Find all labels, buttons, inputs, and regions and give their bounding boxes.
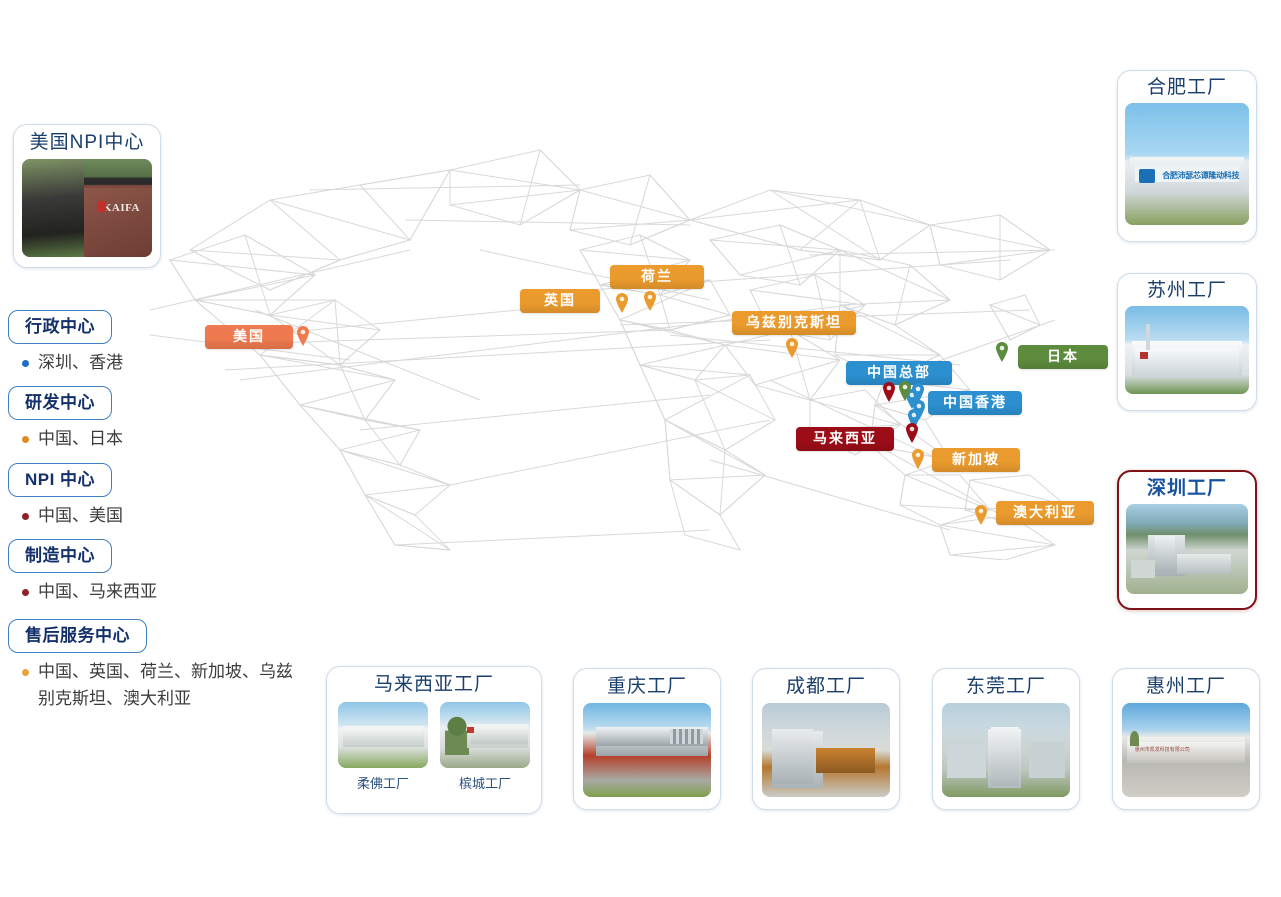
map-label-9[interactable]: 澳大利亚 <box>996 501 1094 525</box>
card-dongguan-factory[interactable]: 东莞工厂 <box>932 668 1080 810</box>
map-pin-2[interactable] <box>643 291 657 311</box>
penang-factory-photo <box>440 702 530 768</box>
hefei-factory-photo: 合肥沛瑟芯谭隆动科技 <box>1125 103 1249 225</box>
legend-pill-after-sales[interactable]: 售后服务中心 <box>8 619 147 653</box>
legend-text-rnd: 中国、日本 <box>38 426 123 452</box>
malaysia-penang-block: 槟城工厂 <box>440 702 530 792</box>
legend-pill-npi[interactable]: NPI 中心 <box>8 463 112 497</box>
legend-item-administrative: 深圳、香港 <box>22 350 308 376</box>
legend-bullet-administrative <box>22 360 29 367</box>
malaysia-johor-block: 柔佛工厂 <box>338 702 428 792</box>
legend-bullet-manufacturing <box>22 589 29 596</box>
card-shenzhen-factory[interactable]: 深圳工厂 <box>1117 470 1257 610</box>
legend-pill-administrative[interactable]: 行政中心 <box>8 310 112 344</box>
legend-item-after-sales: 中国、英国、荷兰、新加坡、乌兹别克斯坦、澳大利亚 <box>22 659 308 712</box>
map-label-2[interactable]: 荷兰 <box>610 265 704 289</box>
chengdu-factory-photo <box>762 703 890 797</box>
global-layout-map: 美国NPI中心 KAIFA 行政中心 深圳、香港 研发中心 中国、日本 NPI … <box>0 0 1281 897</box>
legend-pill-rnd[interactable]: 研发中心 <box>8 386 112 420</box>
penang-factory-label: 槟城工厂 <box>440 773 530 792</box>
card-usa-npi-center[interactable]: 美国NPI中心 KAIFA <box>13 124 161 268</box>
johor-factory-photo <box>338 702 428 768</box>
map-pin-cluster-0[interactable] <box>882 382 896 402</box>
card-title-malaysia: 马来西亚工厂 <box>374 675 494 694</box>
map-pin-8[interactable] <box>911 449 925 469</box>
legend-item-rnd: 中国、日本 <box>22 426 308 452</box>
legend-bullet-rnd <box>22 436 29 443</box>
card-huizhou-factory[interactable]: 惠州工厂 惠州市凯发科技有限公司 <box>1112 668 1260 810</box>
map-pin-4[interactable] <box>995 342 1009 362</box>
map-pin-cluster-1[interactable] <box>898 381 912 401</box>
legend-bullet-npi <box>22 513 29 520</box>
chongqing-factory-photo <box>583 703 711 797</box>
card-title-shenzhen: 深圳工厂 <box>1147 479 1227 498</box>
legend-pill-row-1: 研发中心 <box>8 386 308 420</box>
card-malaysia-factory[interactable]: 马来西亚工厂 柔佛工厂 槟城工厂 <box>326 666 542 814</box>
map-pin-cluster-3[interactable] <box>912 400 926 420</box>
legend-text-manufacturing: 中国、马来西亚 <box>38 579 157 605</box>
legend-pill-manufacturing[interactable]: 制造中心 <box>8 539 112 573</box>
map-pin-0[interactable] <box>296 326 310 346</box>
huizhou-factory-photo: 惠州市凯发科技有限公司 <box>1122 703 1250 797</box>
legend-bullet-after-sales <box>22 669 29 676</box>
map-label-0[interactable]: 美国 <box>205 325 293 349</box>
card-chongqing-factory[interactable]: 重庆工厂 <box>573 668 721 810</box>
card-hefei-factory[interactable]: 合肥工厂 合肥沛瑟芯谭隆动科技 <box>1117 70 1257 242</box>
map-pin-1[interactable] <box>615 293 629 313</box>
center-type-legend: 行政中心 深圳、香港 研发中心 中国、日本 NPI 中心 中国、美国 制造中心 … <box>8 310 308 722</box>
card-title-dongguan: 东莞工厂 <box>966 677 1046 696</box>
legend-pill-row-4: 售后服务中心 <box>8 619 308 653</box>
card-title-hefei: 合肥工厂 <box>1147 78 1227 97</box>
map-label-4[interactable]: 日本 <box>1018 345 1108 369</box>
card-title-chengdu: 成都工厂 <box>786 677 866 696</box>
dongguan-factory-photo <box>942 703 1070 797</box>
card-title-suzhou: 苏州工厂 <box>1147 281 1227 300</box>
card-title-usa-npi: 美国NPI中心 <box>30 133 145 152</box>
legend-pill-row-3: 制造中心 <box>8 539 308 573</box>
map-label-8[interactable]: 新加坡 <box>932 448 1020 472</box>
map-label-1[interactable]: 英国 <box>520 289 600 313</box>
suzhou-factory-photo <box>1125 306 1249 394</box>
malaysia-photo-group: 柔佛工厂 槟城工厂 <box>338 702 530 792</box>
map-pin-3[interactable] <box>785 338 799 358</box>
usa-npi-building-photo: KAIFA <box>22 159 152 257</box>
legend-item-npi: 中国、美国 <box>22 503 308 529</box>
legend-text-npi: 中国、美国 <box>38 503 123 529</box>
card-chengdu-factory[interactable]: 成都工厂 <box>752 668 900 810</box>
card-title-huizhou: 惠州工厂 <box>1146 677 1226 696</box>
map-label-3[interactable]: 乌兹别克斯坦 <box>732 311 856 335</box>
card-suzhou-factory[interactable]: 苏州工厂 <box>1117 273 1257 411</box>
map-pin-9[interactable] <box>974 505 988 525</box>
legend-text-administrative: 深圳、香港 <box>38 350 123 376</box>
legend-item-manufacturing: 中国、马来西亚 <box>22 579 308 605</box>
legend-text-after-sales: 中国、英国、荷兰、新加坡、乌兹别克斯坦、澳大利亚 <box>38 659 303 712</box>
map-label-7[interactable]: 马来西亚 <box>796 427 894 451</box>
map-pin-7[interactable] <box>905 423 919 443</box>
legend-pill-row-2: NPI 中心 <box>8 463 308 497</box>
map-label-6[interactable]: 中国香港 <box>928 391 1022 415</box>
johor-factory-label: 柔佛工厂 <box>338 773 428 792</box>
shenzhen-factory-photo <box>1126 504 1248 594</box>
card-title-chongqing: 重庆工厂 <box>607 677 687 696</box>
